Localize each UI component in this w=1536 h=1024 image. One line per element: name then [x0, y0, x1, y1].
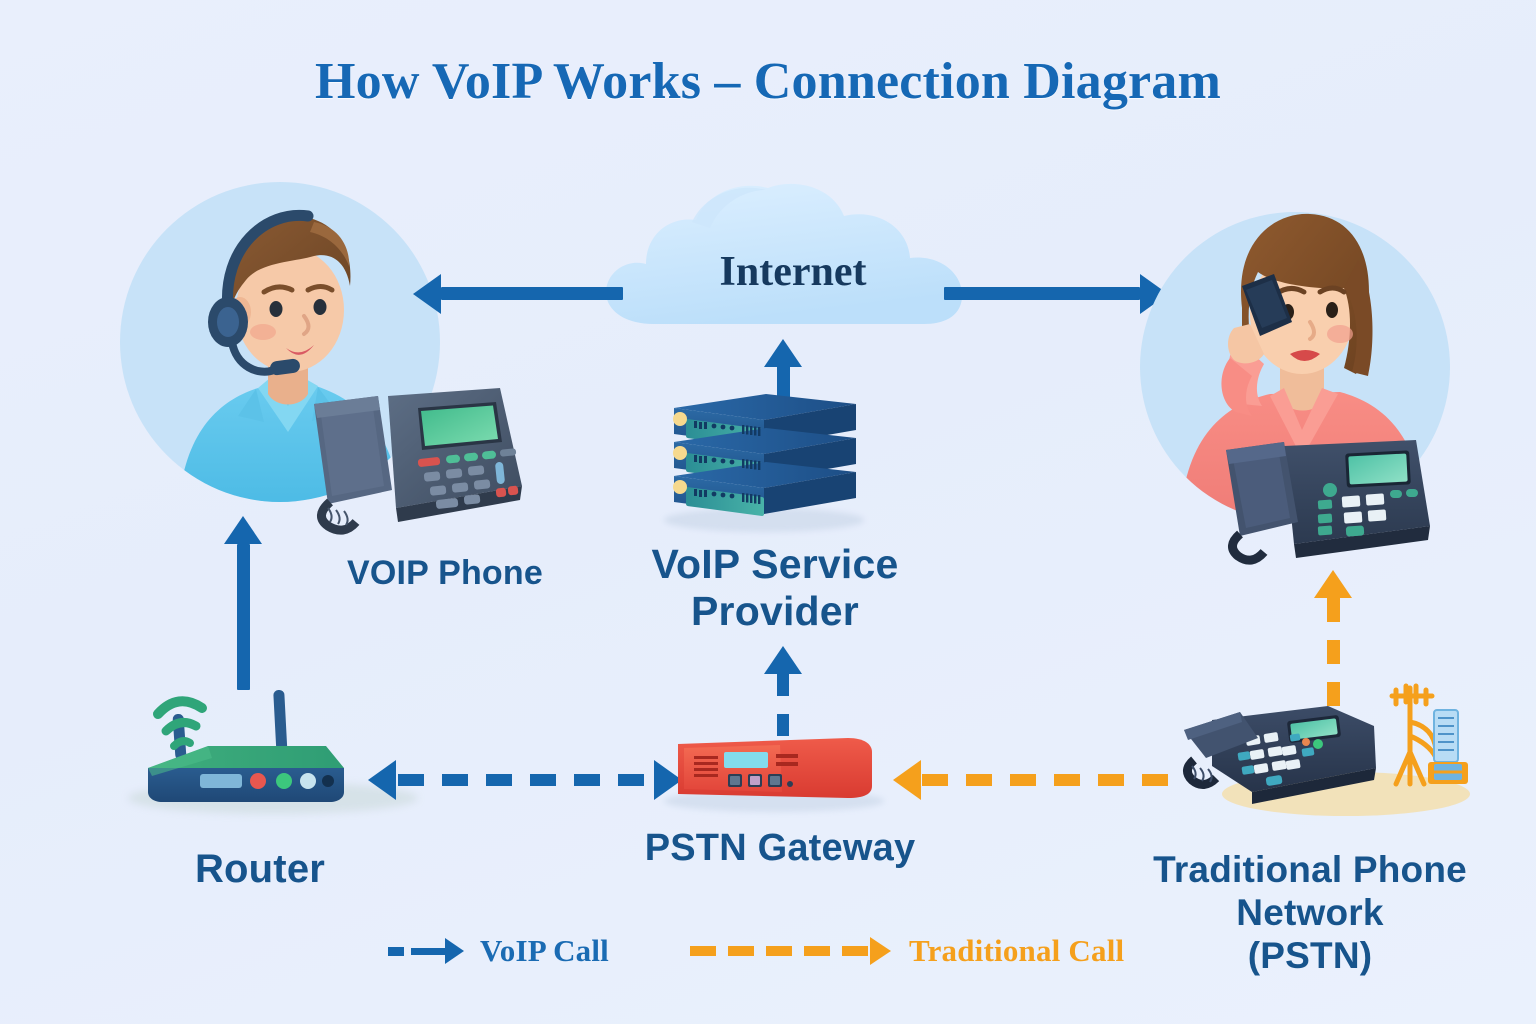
- router-label: Router: [100, 848, 420, 891]
- arrow-gateway-to-provider-head: [764, 646, 802, 674]
- telephone-pole-icon: [1378, 676, 1488, 804]
- internet-label: Internet: [643, 248, 943, 296]
- voip-provider-label-line2: Provider: [610, 589, 940, 633]
- diagram-canvas: How VoIP Works – Connection Diagram: [0, 0, 1536, 1024]
- gateway-device-icon: [672, 732, 884, 804]
- desk-phone-icon: [300, 368, 530, 548]
- arrow-internet-to-voip-user-line: [441, 287, 623, 300]
- wifi-router-icon: [138, 668, 383, 808]
- legend-traditional-dash-4: [804, 946, 830, 956]
- legend: VoIP Call Traditional Call: [0, 926, 1536, 976]
- legend-traditional-dash-5: [842, 946, 868, 956]
- legend-traditional-arrow-icon: [870, 937, 891, 965]
- legend-item-traditional-call[interactable]: Traditional Call: [690, 926, 1124, 976]
- arrow-pstn-to-gateway-line: [922, 774, 1182, 786]
- arrow-router-gateway-head-left: [368, 760, 396, 800]
- voip-provider-label-line1: VoIP Service: [610, 542, 940, 586]
- legend-traditional-dash-3: [766, 946, 792, 956]
- legend-traditional-dash-2: [728, 946, 754, 956]
- arrow-gateway-to-provider-line: [777, 674, 789, 740]
- arrow-pstn-to-gateway-head: [893, 760, 921, 800]
- desk-phone-right-icon: [1218, 430, 1438, 570]
- arrow-internet-to-traditional-user-line: [944, 287, 1140, 300]
- legend-traditional-dash-1: [690, 946, 716, 956]
- legend-voip-dash-icon: [388, 947, 404, 956]
- legend-voip-arrow-icon: [445, 938, 464, 964]
- arrow-router-gateway-line: [398, 774, 658, 786]
- landline-phone-icon: [1178, 692, 1388, 812]
- pstn-gateway-label: PSTN Gateway: [620, 828, 940, 869]
- voip-phone-label: VOIP Phone: [280, 555, 610, 592]
- legend-voip-call-label: VoIP Call: [480, 933, 609, 969]
- arrow-router-to-voip-user-head: [224, 516, 262, 544]
- arrow-pstn-to-user-head: [1314, 570, 1352, 598]
- page-title: How VoIP Works – Connection Diagram: [0, 52, 1536, 111]
- legend-traditional-call-label: Traditional Call: [909, 933, 1124, 969]
- arrow-provider-to-internet-head: [764, 339, 802, 367]
- traditional-network-label-line1: Traditional Phone: [1120, 850, 1500, 890]
- arrow-router-to-voip-user-line: [237, 544, 250, 690]
- arrow-internet-to-voip-user-head: [413, 274, 441, 314]
- server-rack-icon: [650, 390, 880, 530]
- legend-voip-line-icon: [411, 948, 445, 955]
- legend-item-voip-call[interactable]: VoIP Call: [388, 926, 609, 976]
